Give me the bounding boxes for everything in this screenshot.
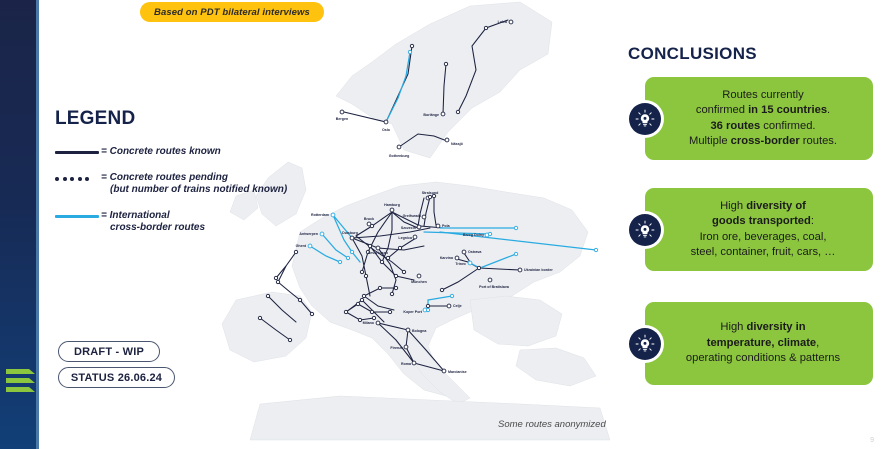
map-node[interactable] — [462, 250, 466, 254]
city-label: Leverkusen — [368, 251, 388, 255]
map-node[interactable] — [442, 369, 446, 373]
map-node[interactable] — [477, 266, 480, 269]
map-node[interactable] — [370, 224, 373, 227]
city-label: Duisburg — [342, 231, 358, 235]
map-node[interactable] — [484, 26, 487, 29]
map-node[interactable] — [417, 225, 421, 229]
map-node[interactable] — [298, 298, 301, 301]
map-node[interactable] — [514, 252, 517, 255]
map-node[interactable] — [406, 328, 410, 332]
map-node[interactable] — [310, 312, 313, 315]
map-node[interactable] — [388, 310, 391, 313]
map-node[interactable] — [276, 280, 279, 283]
city-label: Gothenburg — [389, 154, 410, 158]
map-node[interactable] — [346, 256, 349, 259]
map-node[interactable] — [408, 50, 411, 53]
city-label: Pola — [442, 224, 451, 228]
city-label: Port of Bratislava — [479, 285, 510, 289]
map-node[interactable] — [331, 213, 335, 217]
city-label: Luleå — [498, 20, 507, 24]
map-node[interactable] — [445, 138, 449, 142]
map-node[interactable] — [344, 310, 347, 313]
map-node[interactable] — [394, 274, 397, 277]
source-banner: Based on PDT bilateral interviews — [140, 2, 324, 22]
map-node[interactable] — [426, 308, 429, 311]
lightbulb-icon — [629, 328, 661, 360]
conclusion-card-3-text: High diversity intemperature, climate,op… — [686, 320, 840, 367]
cyan-line-icon — [55, 215, 101, 219]
map-node[interactable] — [372, 316, 375, 319]
conclusions-title: CONCLUSIONS — [628, 44, 757, 64]
company-logo-icon — [5, 357, 39, 405]
map-node[interactable] — [397, 145, 401, 149]
map-node[interactable] — [398, 246, 401, 249]
city-label: München — [411, 280, 427, 284]
city-label: Borlänge — [423, 113, 439, 117]
city-label: Nässjö — [451, 142, 464, 146]
source-banner-text: Based on PDT bilateral interviews — [154, 7, 310, 18]
conclusion-card-2-text: High diversity ofgoods transported:Iron … — [691, 199, 836, 261]
city-label: Oslo — [382, 128, 391, 132]
map-node[interactable] — [358, 318, 361, 321]
city-label: Karvina — [440, 256, 454, 260]
map-node[interactable] — [390, 292, 393, 295]
conclusion-card-3: High diversity intemperature, climate,op… — [645, 302, 873, 385]
map-node[interactable] — [514, 226, 517, 229]
legend-item-concrete-pending: = Concrete routes pending (but number of… — [55, 172, 310, 197]
map-node[interactable] — [422, 215, 426, 219]
map-node[interactable] — [376, 321, 380, 325]
map-node[interactable] — [488, 278, 492, 282]
map-node[interactable] — [441, 112, 445, 116]
map-node[interactable] — [266, 294, 269, 297]
city-label: Bologna — [412, 329, 427, 333]
map-node[interactable] — [404, 345, 408, 349]
draft-status-label: DRAFT - WIP — [74, 346, 144, 358]
map-node[interactable] — [370, 310, 373, 313]
map-node[interactable] — [360, 298, 363, 301]
map-node[interactable] — [468, 261, 472, 265]
draft-status-badge: DRAFT - WIP — [58, 341, 160, 362]
map-node[interactable] — [488, 232, 491, 235]
map-node[interactable] — [447, 304, 451, 308]
dotted-line-icon — [55, 177, 101, 181]
city-label: Marcianise — [448, 370, 467, 374]
map-node[interactable] — [428, 195, 431, 198]
map-node[interactable] — [274, 276, 277, 279]
map-node[interactable] — [356, 302, 359, 305]
map-node[interactable] — [258, 316, 261, 319]
map-node[interactable] — [320, 232, 324, 236]
legend-item-international: = International cross-border routes — [55, 210, 310, 235]
legend-item-concrete-known: = Concrete routes known — [55, 146, 310, 159]
map-node[interactable] — [518, 268, 522, 272]
city-label: Firenze — [390, 346, 403, 350]
map-node[interactable] — [456, 110, 459, 113]
map-node[interactable] — [350, 236, 354, 240]
map-node[interactable] — [294, 250, 297, 253]
conclusion-card-1: Routes currentlyconfirmed in 15 countrie… — [645, 77, 873, 160]
city-label: Brzeg Dolny — [463, 233, 484, 237]
conclusion-card-1-text: Routes currentlyconfirmed in 15 countrie… — [689, 88, 837, 150]
map-node[interactable] — [455, 256, 459, 260]
map-footnote: Some routes anonymized — [498, 419, 606, 430]
map-node[interactable] — [440, 288, 443, 291]
map-node[interactable] — [417, 274, 421, 278]
city-label: Ukrainian border — [524, 268, 553, 272]
map-node[interactable] — [384, 120, 388, 124]
map-node[interactable] — [386, 256, 389, 259]
map-node[interactable] — [364, 274, 367, 277]
city-label: Bruck — [364, 217, 374, 221]
lightbulb-icon — [629, 214, 661, 246]
city-label: Ostrava — [468, 250, 482, 254]
map-node[interactable] — [509, 20, 513, 24]
map-node[interactable] — [410, 44, 413, 47]
slide-root: .lm{fill:#eceef1;stroke:#dfe2e7;stroke-w… — [0, 0, 884, 449]
map-node[interactable] — [360, 270, 363, 273]
map-node[interactable] — [436, 224, 440, 228]
map-node[interactable] — [394, 286, 397, 289]
map-node[interactable] — [376, 246, 380, 250]
map-node[interactable] — [380, 260, 383, 263]
map-node[interactable] — [450, 294, 453, 297]
map-node[interactable] — [412, 361, 416, 365]
city-label: Stralsund — [422, 191, 439, 195]
legend-item-label: = International cross-border routes — [101, 210, 205, 235]
map-node[interactable] — [288, 338, 291, 341]
legend-item-label: = Concrete routes known — [101, 146, 221, 159]
city-label: Roma — [401, 362, 412, 366]
map-node[interactable] — [444, 62, 447, 65]
map-node[interactable] — [368, 244, 371, 247]
city-label: Rotterdam — [311, 213, 329, 217]
city-label: Hamburg — [384, 203, 400, 207]
solid-line-icon — [55, 151, 101, 154]
legend-item-label: = Concrete routes pending (but number of… — [101, 172, 287, 197]
legend-title: LEGEND — [55, 108, 310, 130]
map-node[interactable] — [340, 110, 344, 114]
legend-panel: LEGEND = Concrete routes known = Concret… — [55, 108, 310, 248]
map-node[interactable] — [402, 270, 405, 273]
map-node[interactable] — [594, 248, 597, 251]
status-date-badge: STATUS 26.06.24 — [58, 367, 175, 388]
map-node[interactable] — [390, 208, 394, 212]
map-node[interactable] — [426, 304, 429, 307]
city-label: Greifswald — [403, 214, 421, 218]
page-number: 9 — [870, 437, 874, 444]
city-label: Koper Port — [403, 310, 422, 314]
city-label: Bergen — [336, 117, 348, 121]
city-label: Trinec — [455, 262, 466, 266]
map-node[interactable] — [362, 294, 365, 297]
city-label: Legnica — [398, 236, 413, 240]
city-label: Celje — [453, 304, 462, 308]
conclusion-card-2: High diversity ofgoods transported:Iron … — [645, 188, 873, 271]
map-node[interactable] — [350, 250, 353, 253]
map-node[interactable] — [338, 260, 341, 263]
map-node[interactable] — [413, 235, 417, 239]
map-node[interactable] — [378, 286, 381, 289]
status-date-label: STATUS 26.06.24 — [71, 372, 162, 384]
lightbulb-icon — [629, 103, 661, 135]
city-label: Szczecin — [401, 226, 416, 230]
city-label: Milano — [363, 321, 375, 325]
